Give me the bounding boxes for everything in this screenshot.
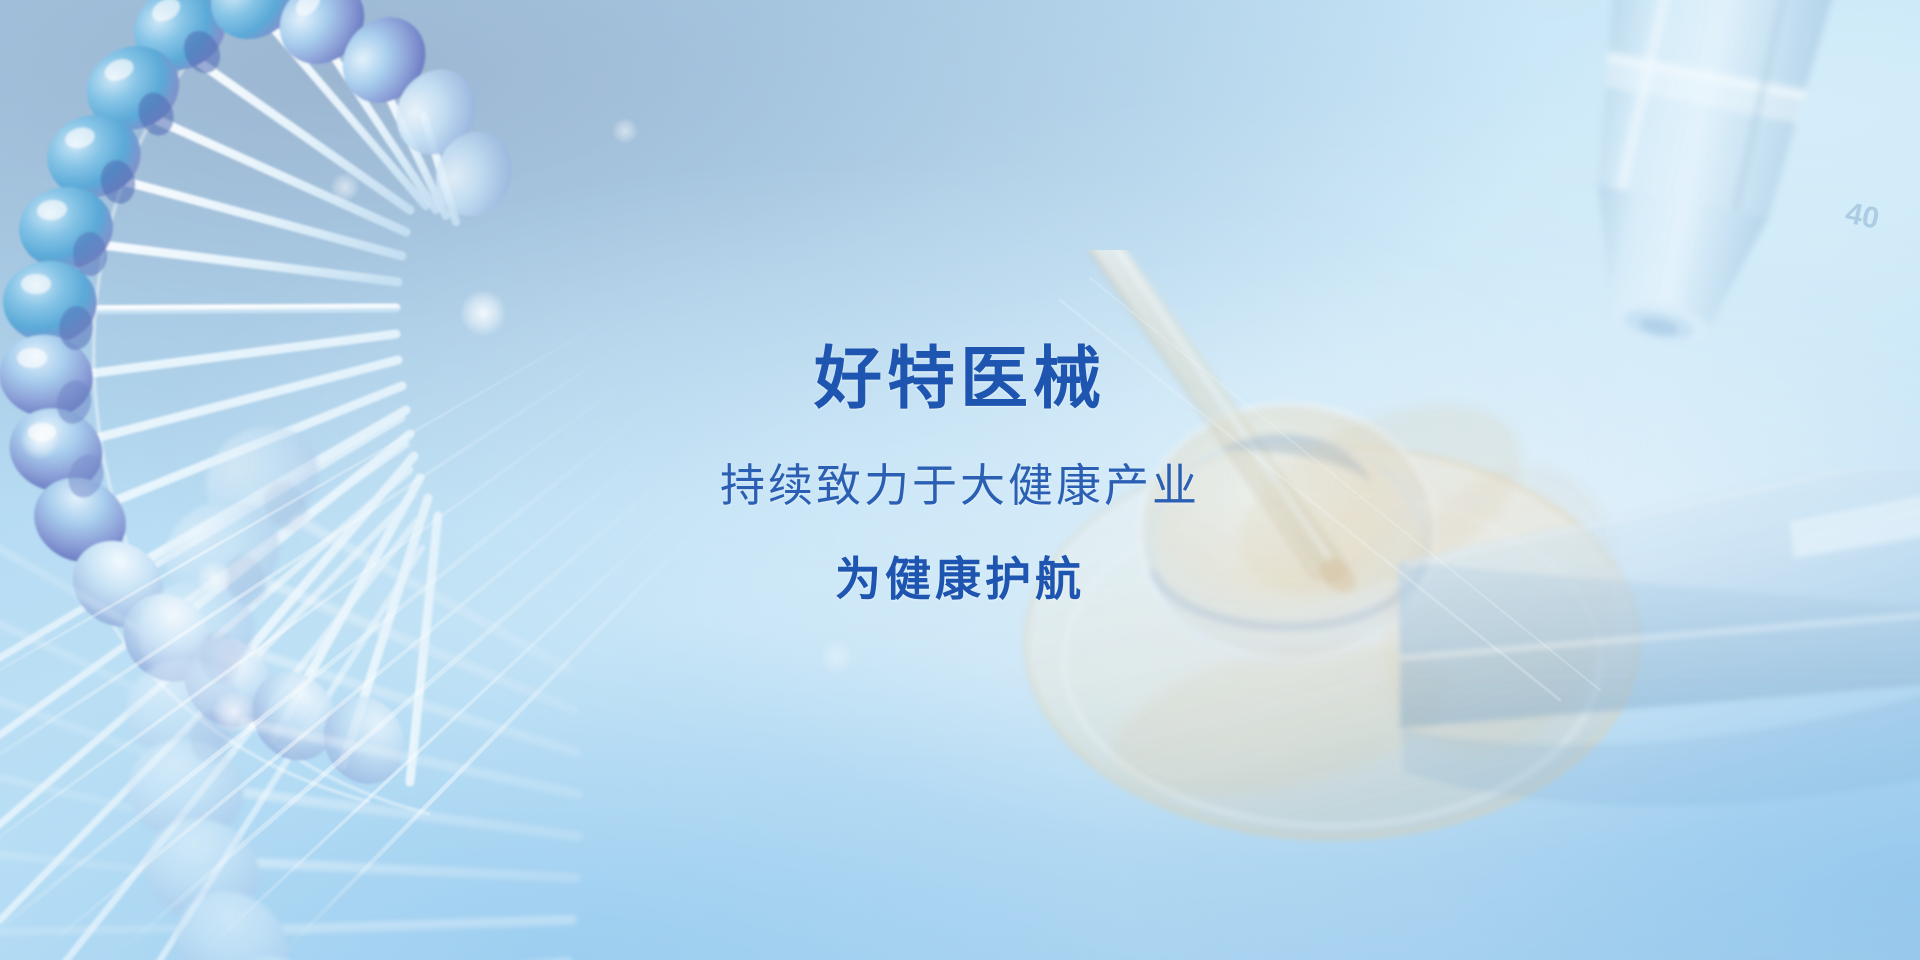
hero-tagline: 为健康护航 [0,556,1920,602]
hero-banner: 40 [0,0,1920,960]
objective-magnification-label: 40 [1843,197,1883,236]
hero-text-block: 好特医械 持续致力于大健康产业 为健康护航 [0,345,1920,602]
page-title: 好特医械 [0,345,1920,413]
hero-subtitle: 持续致力于大健康产业 [0,463,1920,508]
